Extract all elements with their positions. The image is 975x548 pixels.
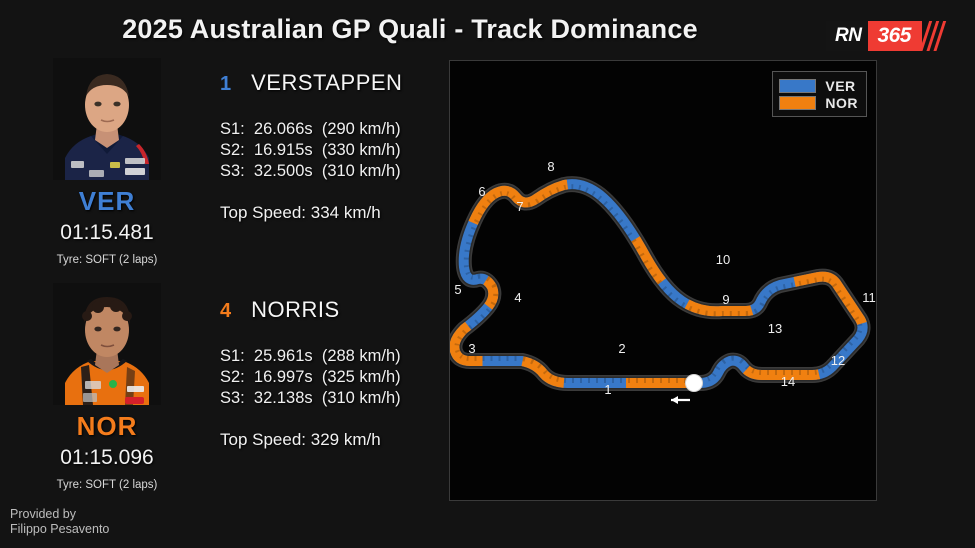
sector-list-ver: S1: 26.066s (290 km/h) S2: 16.915s (330 … <box>220 119 435 182</box>
driver-card-ver: VER 01:15.481 Tyre: SOFT (2 laps) <box>18 58 196 266</box>
corner-number-7: 7 <box>516 199 523 214</box>
footer-credit: Provided by Filippo Pesavento <box>10 507 109 537</box>
corner-number-11: 11 <box>862 290 876 305</box>
driver-tyre-ver: Tyre: SOFT (2 laps) <box>18 254 196 266</box>
driver-position-nor: 4 <box>220 300 231 323</box>
stats-header-nor: 4 NORRIS <box>220 297 435 323</box>
driver-lap-time-ver: 01:15.481 <box>18 221 196 245</box>
corner-number-6: 6 <box>478 184 485 199</box>
driver-tyre-nor: Tyre: SOFT (2 laps) <box>18 479 196 491</box>
legend-label-ver: VER <box>825 78 855 94</box>
stats-header-ver: 1 VERSTAPPEN <box>220 70 435 96</box>
sector-row-s1-nor: S1: 25.961s (288 km/h) <box>220 346 435 367</box>
page-title: 2025 Australian GP Quali - Track Dominan… <box>0 14 820 45</box>
driver-card-nor: NOR 01:15.096 Tyre: SOFT (2 laps) <box>18 283 196 491</box>
driver-stats-ver: 1 VERSTAPPEN S1: 26.066s (290 km/h) S2: … <box>220 70 435 223</box>
corner-number-layer: 1234567891011121314 <box>450 61 876 500</box>
legend-label-nor: NOR <box>825 95 858 111</box>
sector-row-s3-nor: S3: 32.138s (310 km/h) <box>220 388 435 409</box>
top-speed-nor: Top Speed: 329 km/h <box>220 430 435 450</box>
driver-lap-time-nor: 01:15.096 <box>18 446 196 470</box>
driver-surname-ver: VERSTAPPEN <box>251 70 402 96</box>
sector-row-s1-ver: S1: 26.066s (290 km/h) <box>220 119 435 140</box>
corner-number-13: 13 <box>768 321 782 336</box>
rn365-logo: RN 365 <box>826 21 948 51</box>
corner-number-12: 12 <box>831 353 845 368</box>
legend-row-ver: VER <box>779 77 858 94</box>
sector-row-s3-ver: S3: 32.500s (310 km/h) <box>220 161 435 182</box>
logo-365-text: 365 <box>868 21 922 51</box>
corner-number-9: 9 <box>722 292 729 307</box>
sector-list-nor: S1: 25.961s (288 km/h) S2: 16.997s (325 … <box>220 346 435 409</box>
corner-number-8: 8 <box>547 159 554 174</box>
corner-number-1: 1 <box>604 382 611 397</box>
map-legend: VER NOR <box>772 71 867 117</box>
driver-surname-nor: NORRIS <box>251 297 340 323</box>
corner-number-5: 5 <box>454 282 461 297</box>
logo-stripes-icon <box>922 21 948 51</box>
legend-row-nor: NOR <box>779 94 858 111</box>
corner-number-10: 10 <box>716 252 730 267</box>
legend-swatch-nor <box>779 96 816 110</box>
driver-portrait-nor <box>53 283 161 405</box>
legend-swatch-ver <box>779 79 816 93</box>
corner-number-14: 14 <box>781 374 795 389</box>
track-map-panel: 1234567891011121314 VER NOR <box>449 60 877 501</box>
driver-portrait-ver <box>53 58 161 180</box>
sector-row-s2-nor: S2: 16.997s (325 km/h) <box>220 367 435 388</box>
footer-line-1: Provided by <box>10 507 109 522</box>
top-speed-ver: Top Speed: 334 km/h <box>220 203 435 223</box>
logo-rn-text: RN <box>826 21 868 51</box>
corner-number-3: 3 <box>468 341 475 356</box>
footer-line-2: Filippo Pesavento <box>10 522 109 537</box>
sector-row-s2-ver: S2: 16.915s (330 km/h) <box>220 140 435 161</box>
driver-position-ver: 1 <box>220 73 231 96</box>
driver-code-ver: VER <box>18 186 196 217</box>
corner-number-2: 2 <box>618 341 625 356</box>
driver-stats-nor: 4 NORRIS S1: 25.961s (288 km/h) S2: 16.9… <box>220 297 435 450</box>
driver-code-nor: NOR <box>18 411 196 442</box>
corner-number-4: 4 <box>514 290 521 305</box>
